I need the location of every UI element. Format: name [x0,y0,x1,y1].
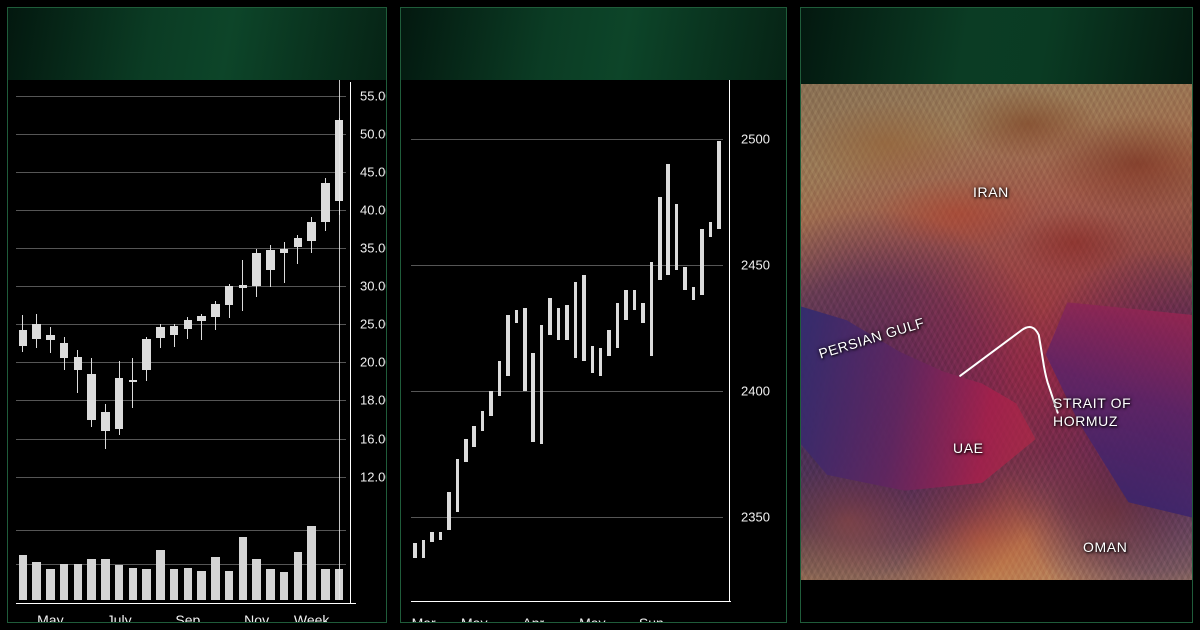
wti-axis-baseline [16,603,356,604]
map-label-oman: OMAN [1083,539,1127,555]
wti-candle[interactable] [211,86,220,518]
wti-y-tick-label: 50.00 [360,127,387,142]
wti-price-plot[interactable] [16,86,346,518]
gold-ohlc-bar[interactable] [616,303,620,348]
gold-ohlc-bar[interactable] [447,492,451,530]
gold-ohlc-bar[interactable] [498,361,502,396]
gold-ohlc-bar[interactable] [658,197,662,280]
wti-axis-rail [350,82,351,604]
gold-gridline [411,391,723,392]
wti-candle[interactable] [266,86,275,518]
wti-candle[interactable] [87,86,96,518]
wti-candle-body [142,339,151,370]
gold-ohlc-bar[interactable] [607,330,611,355]
wti-candle-body [184,320,193,329]
map-header-bar [801,8,1192,84]
wti-volume-bar[interactable] [252,559,261,600]
wti-candle-body [32,324,41,338]
gold-ohlc-bar[interactable] [683,267,687,290]
wti-volume-bar[interactable] [321,569,330,600]
wti-y-tick-label: 12.00 [360,469,387,484]
wti-candle-body [170,326,179,335]
gold-ohlc-bar[interactable] [531,353,535,441]
gold-x-tick-label: Sun [639,615,664,623]
gold-ohlc-bar[interactable] [430,532,434,542]
gold-price-plot[interactable] [411,88,723,593]
gold-ohlc-bar[interactable] [650,262,654,355]
wti-volume-bar[interactable] [280,572,289,600]
wti-candle-body [46,335,55,340]
wti-candle-body [225,286,234,305]
wti-candle[interactable] [321,86,330,518]
wti-candle[interactable] [252,86,261,518]
gold-ohlc-bar[interactable] [481,411,485,431]
map-label-strait-of-hormuz: STRAIT OF HORMUZ [1053,394,1131,430]
gold-gridline [411,517,723,518]
gold-ohlc-bar[interactable] [413,543,417,558]
gold-ohlc-bar[interactable] [591,346,595,374]
wti-y-tick-label: 40.00 [360,203,387,218]
wti-candle-body [307,222,316,240]
satellite-map-image: IRAN PERSIAN GULF STRAIT OF HORMUZ UAE O… [801,84,1192,580]
gold-x-tick-label: Apr [522,615,544,623]
wti-candle[interactable] [129,86,138,518]
wti-candle[interactable] [156,86,165,518]
wti-y-tick-label: 55.00 [360,89,387,104]
gold-ohlc-bar[interactable] [456,459,460,512]
infographic-canvas: WTI CRUDE +35%WTD Weekly 55.0050.0045.00… [0,0,1200,630]
wti-candle[interactable] [32,86,41,518]
gold-gridline [411,139,723,140]
wti-y-tick-label: 30.00 [360,279,387,294]
wti-candle-body [87,374,96,420]
wti-y-tick-label: 18.00 [360,393,387,408]
gold-ohlc-bar[interactable] [700,229,704,295]
gold-ohlc-bar[interactable] [709,222,713,237]
wti-candle-wick [132,358,133,408]
gold-ohlc-bar[interactable] [582,275,586,361]
wti-volume-plot[interactable] [16,520,346,600]
gold-ohlc-bar[interactable] [506,315,510,376]
map-footer-mask [801,580,1192,622]
gold-ohlc-bar[interactable] [422,540,426,558]
wti-volume-bar[interactable] [184,568,193,600]
wti-y-tick-label: 16.00 [360,431,387,446]
wti-volume-bar[interactable] [307,526,316,600]
wti-candle[interactable] [294,86,303,518]
wti-volume-bar[interactable] [87,559,96,600]
wti-volume-bar[interactable] [60,564,69,600]
map-label-strait-line1: STRAIT OF [1053,394,1131,412]
gold-ohlc-bar[interactable] [574,282,578,358]
wti-volume-bar[interactable] [19,555,28,600]
wti-candle[interactable] [60,86,69,518]
wti-candle-body [239,285,248,288]
gold-ohlc-bar[interactable] [624,290,628,320]
wti-x-axis: MayJulySepNovWeek [8,612,386,623]
gold-ohlc-bar[interactable] [599,348,603,376]
map-label-iran: IRAN [973,184,1009,200]
wti-x-tick-label: July [107,612,132,623]
wti-y-tick-label: 45.00 [360,165,387,180]
wti-volume-gridline [16,530,346,531]
wti-volume-bar[interactable] [129,568,138,600]
gold-axis-rail [729,76,730,601]
gold-y-tick-label: 2500 [741,131,770,146]
gold-ohlc-bar[interactable] [464,439,468,462]
wti-candle[interactable] [101,86,110,518]
gold-x-axis: MarMayAprMaySun [401,615,786,623]
wti-y-tick-label: 20.00 [360,355,387,370]
gold-ohlc-bar[interactable] [565,305,569,340]
wti-crosshair [339,40,340,600]
wti-candle-wick [50,327,51,353]
gold-ohlc-bar[interactable] [439,532,443,540]
wti-header-bar [8,8,386,80]
wti-volume-bar[interactable] [211,557,220,600]
wti-candle-body [74,357,83,370]
gold-ohlc-bar[interactable] [675,204,679,270]
gold-ohlc-bar[interactable] [717,141,721,229]
gold-ohlc-bar[interactable] [515,310,519,323]
wti-candle[interactable] [197,86,206,518]
wti-candle-body [197,316,206,321]
gold-ohlc-bar[interactable] [557,308,561,341]
gold-ohlc-bar[interactable] [641,303,645,323]
gold-y-tick-label: 2400 [741,384,770,399]
map-label-strait-line2: HORMUZ [1053,412,1131,430]
wti-volume-bar[interactable] [46,569,55,600]
wti-volume-bar[interactable] [266,569,275,600]
wti-candle[interactable] [184,86,193,518]
wti-candle[interactable] [74,86,83,518]
gold-ohlc-bar[interactable] [489,391,493,416]
gold-ohlc-bar[interactable] [666,164,670,275]
gold-ohlc-bar[interactable] [692,287,696,300]
wti-volume-bar[interactable] [156,550,165,600]
wti-candle[interactable] [46,86,55,518]
map-label-uae: UAE [953,440,984,456]
wti-candle[interactable] [280,86,289,518]
wti-volume-bar[interactable] [115,565,124,600]
panel-hormuz-map: IRAN PERSIAN GULF STRAIT OF HORMUZ UAE O… [800,7,1193,623]
gold-ohlc-bar[interactable] [523,308,527,391]
gold-ohlc-bar[interactable] [548,298,552,336]
wti-candle-body [156,327,165,338]
wti-candle-body [266,250,275,270]
panel-gold-xauusd: GOLD (XAUUSD) 2500245024002350 MarMayApr… [400,7,787,623]
wti-x-tick-label: May [37,612,63,623]
wti-candle-body [252,253,261,286]
wti-candle[interactable] [142,86,151,518]
wti-candle-body [294,238,303,248]
gold-x-tick-label: May [579,615,605,623]
gold-ohlc-bar[interactable] [633,290,637,310]
wti-volume-bar[interactable] [225,571,234,600]
wti-x-tick-label: Week [294,612,330,623]
gold-y-tick-label: 2450 [741,257,770,272]
wti-candle[interactable] [115,86,124,518]
wti-candle-body [115,378,124,429]
wti-candle-body [60,343,69,358]
gold-ohlc-bar[interactable] [540,325,544,444]
gold-y-tick-label: 2350 [741,510,770,525]
wti-volume-bar[interactable] [101,559,110,600]
wti-volume-bar[interactable] [239,537,248,600]
wti-candle-body [129,380,138,382]
wti-candle-body [321,183,330,223]
panel-wti-crude: WTI CRUDE +35%WTD Weekly 55.0050.0045.00… [7,7,387,623]
wti-candle-body [211,304,220,317]
gold-x-tick-label: May [461,615,487,623]
wti-volume-bar[interactable] [197,571,206,600]
wti-volume-bar[interactable] [170,569,179,600]
gold-axis-baseline [411,601,731,602]
wti-y-tick-label: 25.00 [360,317,387,332]
wti-volume-bar[interactable] [142,569,151,600]
wti-candle[interactable] [239,86,248,518]
wti-x-tick-label: Sep [175,612,200,623]
gold-x-tick-label: Mar [412,615,436,623]
wti-y-tick-label: 35.00 [360,241,387,256]
wti-candle-body [101,412,110,431]
wti-candle-body [280,249,289,253]
wti-candle[interactable] [307,86,316,518]
wti-candle-body [19,330,28,346]
wti-volume-bar[interactable] [74,564,83,600]
wti-x-tick-label: Nov [244,612,269,623]
wti-candle[interactable] [19,86,28,518]
gold-header-bar [401,8,786,80]
wti-candle[interactable] [170,86,179,518]
gold-ohlc-bar[interactable] [472,426,476,446]
wti-candle[interactable] [225,86,234,518]
wti-volume-bar[interactable] [32,562,41,600]
wti-volume-bar[interactable] [294,552,303,600]
